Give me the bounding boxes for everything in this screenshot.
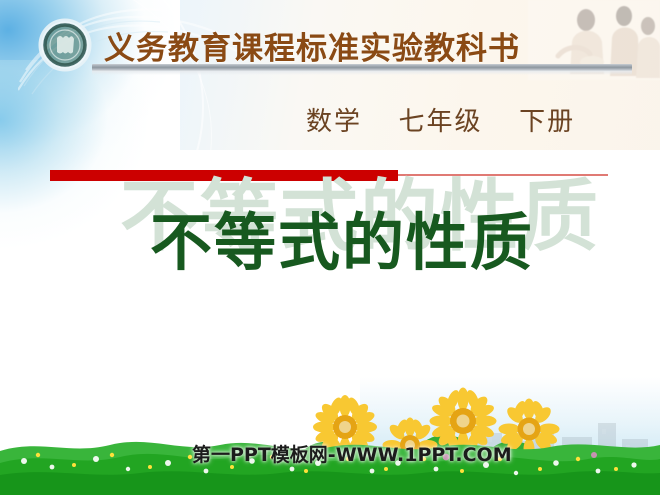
ministry-emblem-icon: [38, 18, 92, 72]
volume-label: 下册: [519, 107, 575, 137]
subject-grade-volume-line: 数学 七年级 下册: [306, 101, 575, 138]
grass-and-flowers: [0, 375, 660, 495]
bottom-scenery: [0, 375, 660, 495]
header-divider-rule: [92, 64, 632, 71]
page-title-textbook: 义务教育课程标准实验教科书: [104, 23, 520, 68]
lesson-title: 不等式的性质: [150, 212, 534, 274]
grade-label: 七年级: [399, 107, 483, 137]
site-watermark: 第一PPT模板网-WWW.1PPT.COM: [192, 440, 512, 467]
lesson-title-block: 不等式的性质 不等式的性质: [0, 178, 660, 308]
subject-label: 数学: [306, 107, 362, 137]
header-divider-glow: [92, 71, 632, 75]
presentation-slide: 义务教育课程标准实验教科书 数学 七年级 下册 不等式的性质 不等式的性质: [0, 0, 660, 495]
